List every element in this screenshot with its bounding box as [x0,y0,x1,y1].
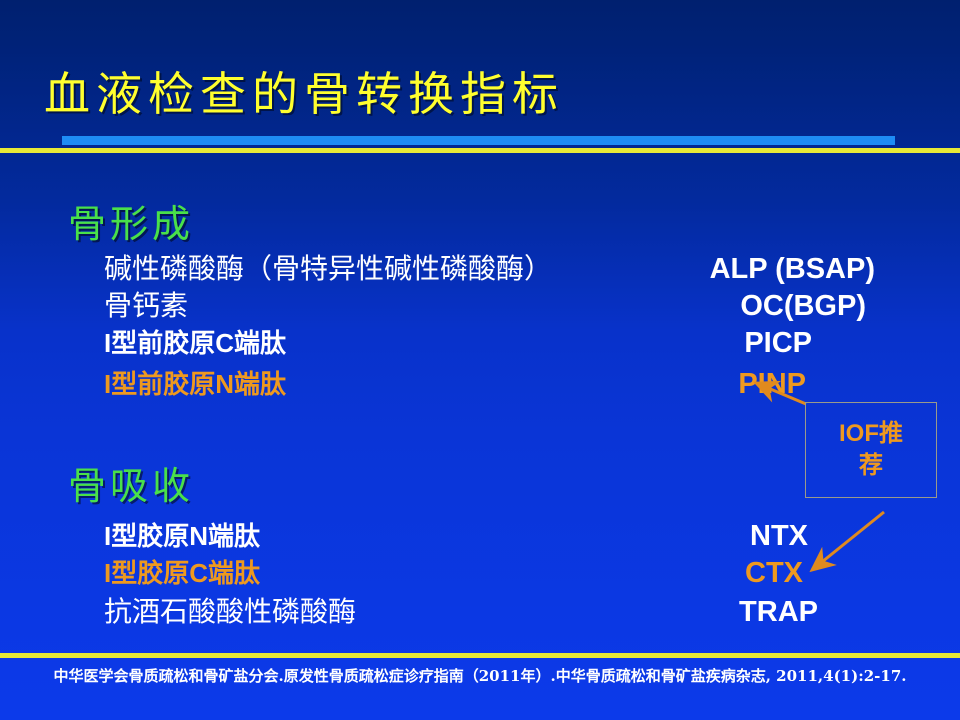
header-yellow-rule [0,148,960,153]
row-trap-marker: TRAP [739,594,818,630]
iof-callout-text: IOF推 荐 [839,418,903,483]
footer-yellow-rule [0,653,960,658]
section-heading-bone-resorption: 骨吸收 [68,455,194,510]
page-title: 血液检查的骨转换指标 [44,58,564,124]
row-picp-label: I型前胶原C端肽 [104,325,286,361]
row-trap-label: 抗酒石酸酸性磷酸酶 [104,594,356,630]
row-trap: 抗酒石酸酸性磷酸酶 TRAP [104,594,894,630]
row-oc-marker: OC(BGP) [740,288,866,324]
row-ctx-label: I型胶原C端肽 [104,555,260,591]
row-picp: I型前胶原C端肽 PICP [104,325,894,361]
row-oc: 骨钙素 OC(BGP) [104,288,894,324]
footer-citation-line1: 中华医学会骨质疏松和骨矿盐分会.原发性骨质疏松症诊疗指南（2011年）.中华骨质… [54,667,771,685]
row-oc-label: 骨钙素 [104,288,188,324]
row-pinp: I型前胶原N端肽 PINP [104,366,894,402]
slide-root: 血液检查的骨转换指标 骨形成 碱性磷酸酶（骨特异性碱性磷酸酶） ALP (BSA… [0,0,960,720]
row-pinp-marker: PINP [738,366,806,402]
iof-callout-line1: IOF推 [839,420,903,447]
row-ctx: I型胶原C端肽 CTX [104,555,894,591]
iof-recommendation-callout: IOF推 荐 [805,402,937,498]
footer-citation: 中华医学会骨质疏松和骨矿盐分会.原发性骨质疏松症诊疗指南（2011年）.中华骨质… [0,666,960,687]
section-heading-bone-formation: 骨形成 [68,193,194,248]
row-ntx: I型胶原N端肽 NTX [104,518,894,554]
row-pinp-label: I型前胶原N端肽 [104,366,286,402]
row-ntx-label: I型胶原N端肽 [104,518,260,554]
row-picp-marker: PICP [744,325,812,361]
row-ntx-marker: NTX [750,518,808,554]
header-blue-rule [62,136,895,145]
row-alp-marker: ALP (BSAP) [710,251,875,287]
row-ctx-marker: CTX [745,555,803,591]
row-alp-label: 碱性磷酸酶（骨特异性碱性磷酸酶） [104,251,552,287]
iof-callout-line2: 荐 [859,452,883,479]
footer-citation-line2: 2011,4(1):2-17. [776,667,906,685]
row-alp: 碱性磷酸酶（骨特异性碱性磷酸酶） ALP (BSAP) [104,251,894,287]
